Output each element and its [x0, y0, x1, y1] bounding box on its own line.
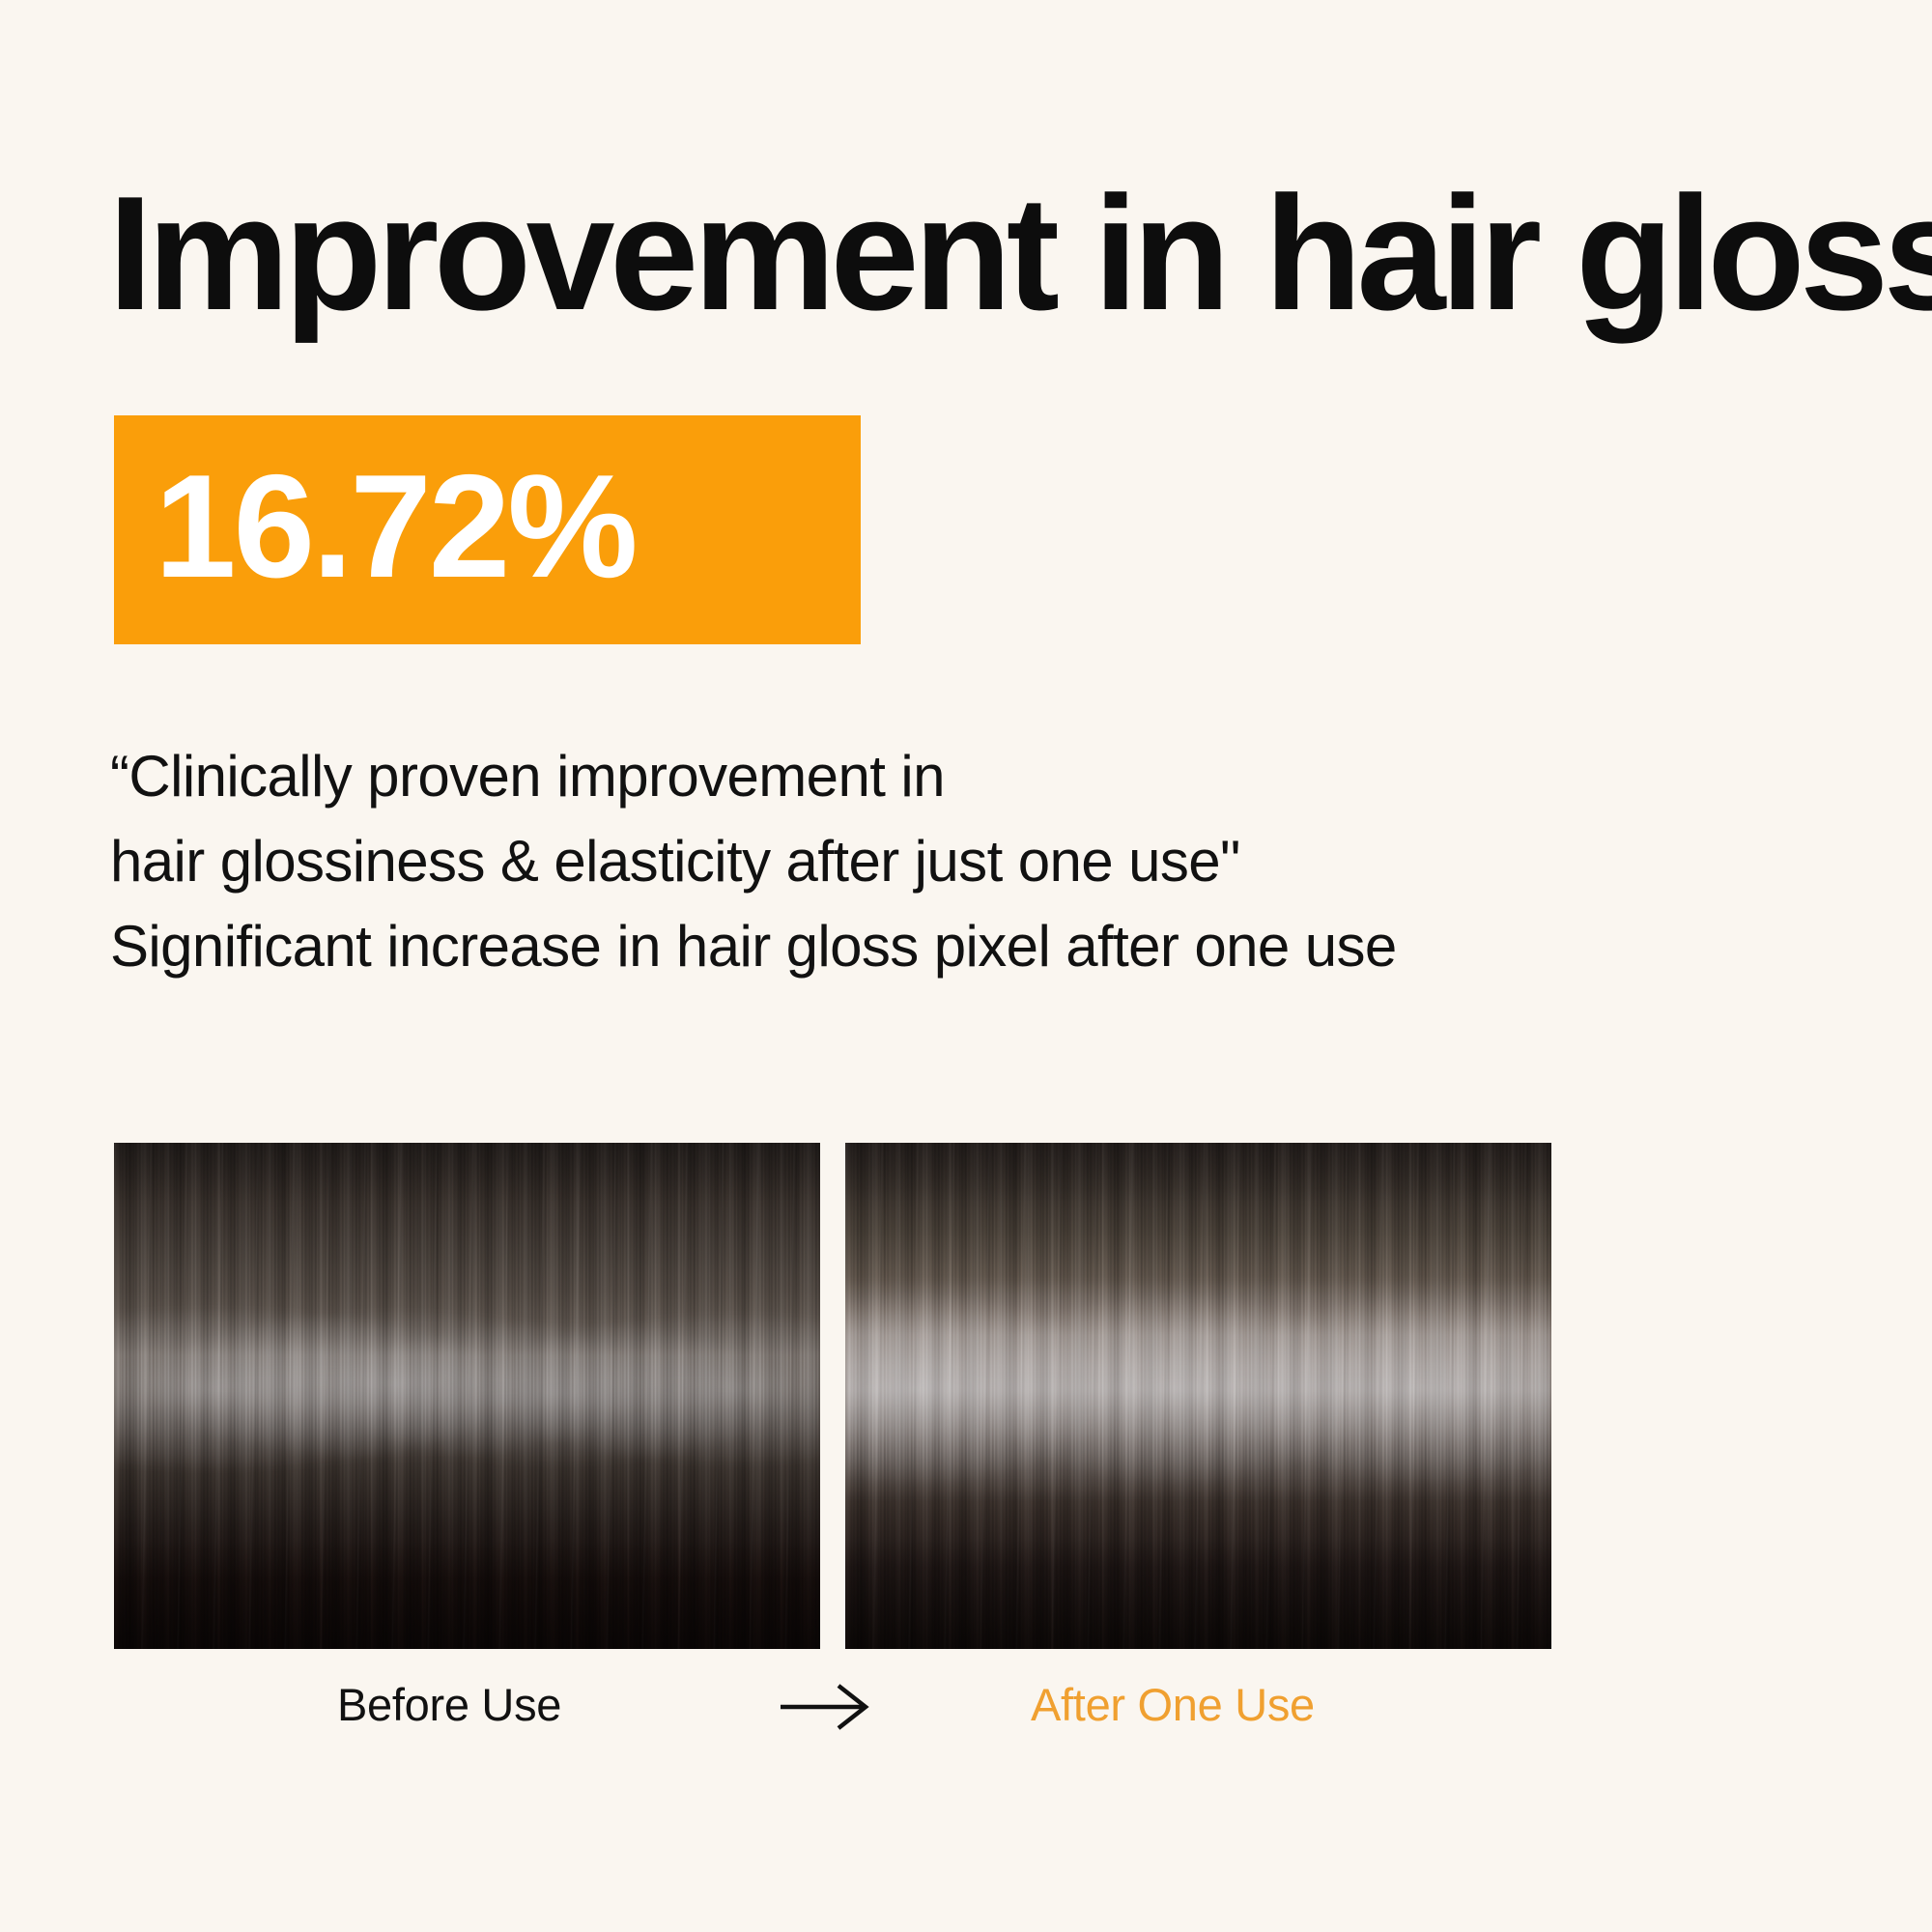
- page-title: Improvement in hair gloss: [108, 172, 1821, 334]
- stat-badge: 16.72%: [114, 415, 861, 644]
- comparison-captions: Before Use After One Use: [114, 1676, 1551, 1763]
- before-label: Before Use: [337, 1676, 561, 1734]
- claim-line-1: “Clinically proven improvement in: [110, 734, 1849, 819]
- claim-paragraph: “Clinically proven improvement in hair g…: [110, 734, 1849, 989]
- after-image-vignette: [845, 1143, 1551, 1649]
- claim-line-3: Significant increase in hair gloss pixel…: [110, 904, 1849, 989]
- before-after-comparison: [114, 1143, 1551, 1649]
- after-label: After One Use: [1031, 1676, 1315, 1734]
- marketing-claim-page: Improvement in hair gloss 16.72% “Clinic…: [0, 0, 1932, 1932]
- before-hair-image: [114, 1143, 820, 1649]
- arrow-right-icon: [779, 1684, 875, 1730]
- claim-line-2: hair glossiness & elasticity after just …: [110, 819, 1849, 904]
- stat-badge-value: 16.72%: [155, 453, 636, 600]
- after-hair-image: [845, 1143, 1551, 1649]
- before-image-vignette: [114, 1143, 820, 1649]
